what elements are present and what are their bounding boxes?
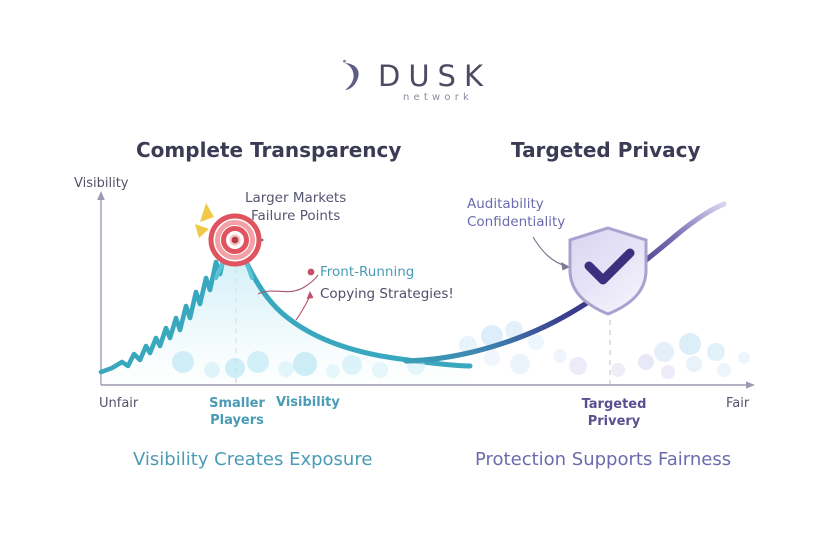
footer-visibility-creates-exposure: Visibility Creates Exposure	[133, 449, 372, 470]
annotation-auditability: Auditability	[467, 195, 565, 213]
annotation-peak: Larger Markets Failure Points	[245, 190, 346, 226]
tick-targeted-line2: Privery	[575, 413, 653, 430]
infographic-canvas: DUSK network Complete Transparency Targe…	[0, 0, 828, 535]
x-axis-tick-visibility: Visibility	[276, 395, 340, 410]
y-axis-arrow	[97, 191, 105, 200]
shield-leader-arrow	[533, 237, 570, 271]
x-axis-tick-unfair: Unfair	[99, 396, 138, 411]
annotation-confidentiality: Confidentiality	[467, 213, 565, 231]
annotation-copying-strategies: Copying Strategies!	[320, 286, 454, 304]
tick-smaller-line2: Players	[205, 412, 269, 429]
annotation-front-running: Front-Running	[320, 264, 414, 282]
tick-smaller-line1: Smaller	[205, 395, 269, 412]
front-running-leader	[258, 269, 318, 294]
annotation-auditability-confidentiality: Auditability Confidentiality	[467, 195, 565, 231]
x-axis-tick-fair: Fair	[726, 396, 749, 411]
annotation-peak-line2: Failure Points	[245, 208, 346, 226]
x-axis-tick-smaller-players: Smaller Players	[205, 395, 269, 429]
tick-targeted-line1: Targeted	[575, 396, 653, 413]
x-axis-arrow	[746, 381, 755, 388]
annotation-peak-line1: Larger Markets	[245, 190, 346, 208]
x-axis-tick-targeted-privery: Targeted Privery	[575, 396, 653, 430]
y-axis-label: Visibility	[74, 176, 128, 191]
copying-strategies-leader	[296, 291, 314, 320]
footer-protection-supports-fairness: Protection Supports Fairness	[475, 449, 731, 470]
shield-check-icon	[570, 228, 646, 314]
